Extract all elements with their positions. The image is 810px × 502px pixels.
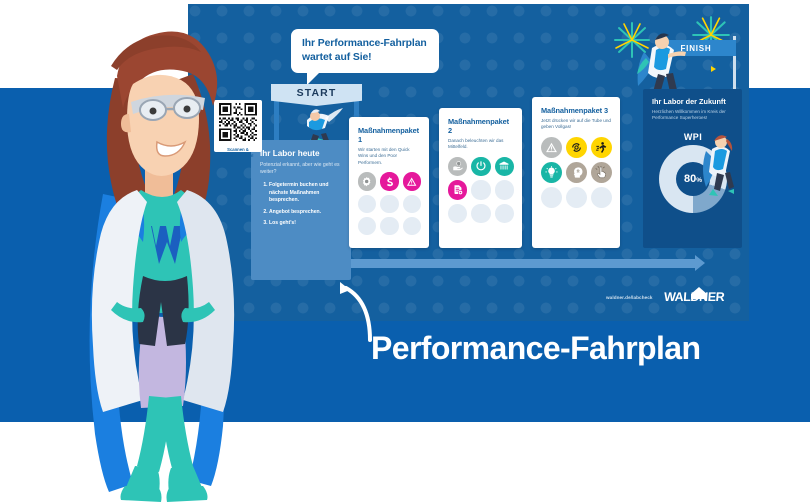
empty-slot (591, 187, 612, 208)
recycle-cycle-icon (566, 137, 587, 158)
card-measure-1-subtitle: Wir starten mit den Quick Wins und den P… (358, 147, 421, 166)
step-item: Angebot besprechen. (269, 209, 342, 216)
poster-url: waldner.de/labcheck (606, 295, 653, 300)
card-measure-package-2: Maßnahmenpaket 2 Danach beleuchten wir d… (439, 108, 522, 248)
empty-slot (358, 195, 376, 213)
wpi-value: 80 (684, 173, 696, 185)
empty-slot (495, 204, 514, 223)
card-lab-future: Ihr Labor der Zukunft Herzlichen Willkom… (643, 89, 742, 248)
hand-care-icon (448, 157, 467, 176)
hero-scientist-illustration (45, 14, 265, 502)
empty-slot (380, 217, 398, 235)
speech-bubble-line2: wartet auf Sie! (302, 51, 429, 65)
start-label: START (297, 87, 337, 99)
speech-bubble-line1: Ihr Performance-Fahrplan (302, 37, 429, 51)
recycle-cycle-icon[interactable] (566, 137, 587, 158)
card-measure-package-3: Maßnahmenpaket 3 Jetzt drücken wir auf d… (532, 97, 620, 248)
power-button-icon[interactable] (471, 157, 490, 176)
warning-icon[interactable] (403, 172, 421, 190)
icon-grid-3 (541, 137, 612, 208)
document-settings-icon (448, 180, 467, 199)
empty-slot (403, 217, 421, 235)
fume-hood-icon (495, 157, 514, 176)
empty-slot (566, 187, 587, 208)
empty-slot (495, 180, 514, 199)
progress-rail-arrow (334, 259, 696, 268)
card-lab-future-subtitle: Herzlichen Willkommen im Kreis der Perfo… (652, 109, 734, 122)
empty-slot (471, 204, 490, 223)
warning-icon[interactable] (541, 137, 562, 158)
poster-panel: Ihr Performance-Fahrplan wartet auf Sie!… (188, 4, 749, 321)
page-title: Performance-Fahrplan (371, 330, 700, 367)
person-running-icon[interactable] (591, 137, 612, 158)
confetti-icon (708, 62, 722, 76)
screenshot-stage: Ihr Performance-Fahrplan wartet auf Sie!… (0, 0, 810, 502)
icon-grid-1 (358, 172, 421, 235)
person-running-icon (591, 137, 612, 158)
hand-click-icon[interactable] (591, 162, 612, 183)
lightbulb-icon (541, 162, 562, 183)
head-brain-icon (566, 162, 587, 183)
start-banner: START (271, 84, 362, 106)
gear-cog-icon[interactable] (358, 172, 376, 190)
card-lab-future-title: Ihr Labor der Zukunft (652, 97, 734, 106)
step-item: Los geht's! (269, 220, 342, 227)
card-measure-2-subtitle: Danach beleuchten wir das Mittelfeld. (448, 138, 514, 151)
empty-slot (541, 187, 562, 208)
card-measure-3-subtitle: Jetzt drücken wir auf die Tube und geben… (541, 118, 612, 131)
svg-text:WALDNER: WALDNER (664, 290, 726, 304)
fume-hood-icon[interactable] (495, 157, 514, 176)
waldner-logo: WALDNER (659, 285, 731, 307)
hand-click-icon (591, 162, 612, 183)
future-hero-illustration (702, 131, 740, 197)
empty-slot (403, 195, 421, 213)
empty-slot (471, 180, 490, 199)
card-measure-3-title: Maßnahmenpaket 3 (541, 106, 612, 115)
card-lab-today-title: Ihr Labor heute (260, 149, 342, 158)
card-lab-today-steps: Folgetermin buchen und nächste Maßnahmen… (260, 182, 342, 227)
lightbulb-icon[interactable] (541, 162, 562, 183)
document-settings-icon[interactable] (448, 180, 467, 199)
empty-slot (358, 217, 376, 235)
empty-slot (380, 195, 398, 213)
warning-icon (403, 172, 421, 190)
head-brain-icon[interactable] (566, 162, 587, 183)
energy-saving-icon[interactable] (380, 172, 398, 190)
power-button-icon (471, 157, 490, 176)
warning-icon (541, 137, 562, 158)
hand-care-icon[interactable] (448, 157, 467, 176)
card-measure-package-1: Maßnahmenpaket 1 Wir starten mit den Qui… (349, 117, 429, 248)
finish-hero-illustration (634, 28, 688, 94)
empty-slot (448, 204, 467, 223)
card-measure-1-title: Maßnahmenpaket 1 (358, 126, 421, 144)
card-lab-today: Ihr Labor heute Potenzial erkannt, aber … (251, 140, 351, 280)
energy-saving-icon (380, 172, 398, 190)
speech-bubble: Ihr Performance-Fahrplan wartet auf Sie! (291, 29, 439, 73)
card-lab-today-subtitle: Potenzial erkannt, aber wie geht es weit… (260, 162, 342, 176)
finish-gate: FINISH (612, 14, 747, 94)
step-item: Folgetermin buchen und nächste Maßnahmen… (269, 182, 342, 204)
gear-cog-icon (358, 172, 376, 190)
card-measure-2-title: Maßnahmenpaket 2 (448, 117, 514, 135)
icon-grid-2 (448, 157, 514, 223)
